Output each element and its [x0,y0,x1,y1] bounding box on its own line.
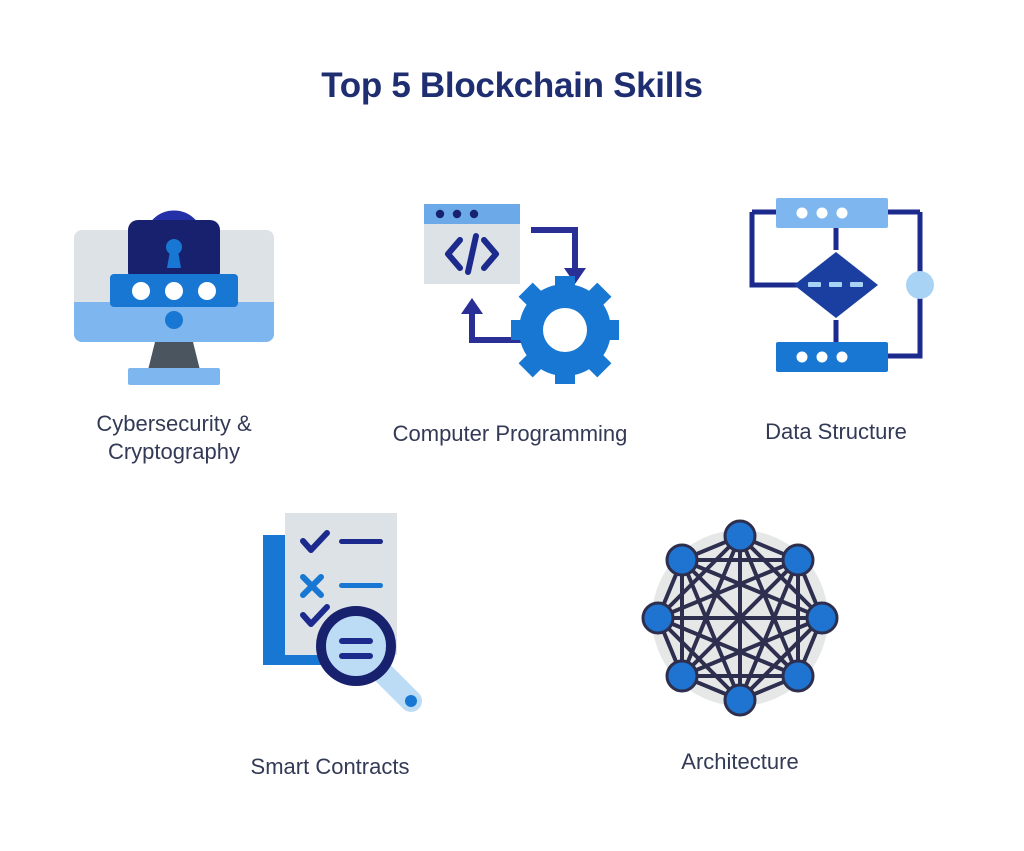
skill-card-smart-contracts: Smart Contracts [200,505,460,781]
skill-card-computer-programming: Computer Programming [360,190,660,448]
skill-label-cybersecurity-cryptography: Cybersecurity & Cryptography [96,410,251,466]
network-mesh-icon [640,518,840,718]
flowchart-diamond-icon [736,190,936,380]
checklist-magnifier-icon [215,505,445,725]
monitor-lock-icon [44,168,304,390]
skill-label-architecture: Architecture [681,748,798,776]
skill-label-data-structure: Data Structure [765,418,907,446]
code-window-gear-icon [360,190,660,382]
skill-card-architecture: Architecture [630,518,850,776]
page-title: Top 5 Blockchain Skills [0,66,1024,106]
skill-label-smart-contracts: Smart Contracts [251,753,410,781]
skill-label-computer-programming: Computer Programming [393,420,628,448]
skill-card-data-structure: Data Structure [726,190,946,446]
skill-card-cybersecurity-cryptography: Cybersecurity & Cryptography [44,168,304,466]
infographic-page: Top 5 Blockchain Skills [0,0,1024,851]
